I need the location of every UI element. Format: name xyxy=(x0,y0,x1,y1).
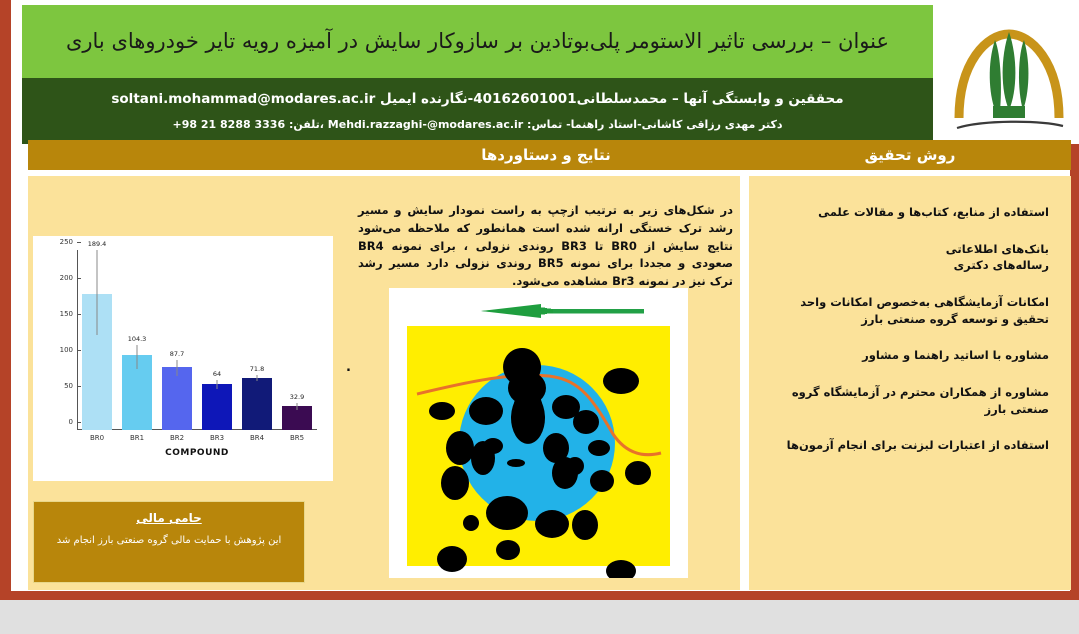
method-item: مشاوره از همکاران محترم در آزمایشگاه گرو… xyxy=(767,384,1049,417)
direction-arrow-icon xyxy=(481,304,644,318)
chart-y-tick: 200 xyxy=(60,274,77,282)
results-panel: در شکل‌های زیر به ترتیب ازچپ به راست نمو… xyxy=(28,176,740,590)
poster-root: عنوان – بررسی تاثیر الاستومر پلی‌بوتادین… xyxy=(0,0,1079,600)
chart-x-tick-label: BR0 xyxy=(82,434,112,442)
abrasion-rate-chart: Abrasion rate ( mg/Km) 050100150200250 1… xyxy=(33,236,333,481)
supervisor-contact-line: دکتر مهدی رزاقی کاشانی-استاد راهنما- تما… xyxy=(22,118,933,131)
chart-y-tick: 100 xyxy=(60,346,77,354)
chart-x-tick-labels: BR0BR1BR2BR3BR4BR5 xyxy=(77,434,317,442)
chart-bar-slot: 71.8 xyxy=(242,250,272,430)
sponsor-title: حامی مالی xyxy=(34,511,304,525)
chart-error-bar xyxy=(297,403,298,410)
schematic-svg xyxy=(389,288,688,578)
method-item: بانک‌های اطلاعاتی رساله‌های دکتری xyxy=(767,241,1049,274)
chart-value-label: 87.7 xyxy=(170,350,184,358)
chart-error-bar xyxy=(217,380,218,389)
chart-x-tick-label: BR1 xyxy=(122,434,152,442)
method-item: امکانات آزمایشگاهی به‌خصوص امکانات واحد … xyxy=(767,294,1049,327)
chart-value-label: 32.9 xyxy=(290,393,304,401)
sponsor-box: حامی مالی این پژوهش با حمایت مالی گروه ص… xyxy=(33,501,305,583)
chart-bar xyxy=(202,384,232,430)
page-title: عنوان – بررسی تاثیر الاستومر پلی‌بوتادین… xyxy=(22,28,933,54)
chart-y-tick: 0 xyxy=(69,418,77,426)
chart-plot-area: 050100150200250 189.4104.387.76471.832.9 xyxy=(77,250,317,430)
section-header-method-label: روش تحقیق xyxy=(865,146,956,164)
chart-x-tick-label: BR4 xyxy=(242,434,272,442)
chart-y-tick: 250 xyxy=(60,238,77,246)
chart-bars: 189.4104.387.76471.832.9 xyxy=(77,250,317,430)
chart-bar-slot: 87.7 xyxy=(162,250,192,430)
chart-error-bar xyxy=(257,375,258,381)
chart-bar xyxy=(242,378,272,430)
results-paragraph: در شکل‌های زیر به ترتیب ازچپ به راست نمو… xyxy=(358,202,733,291)
method-list: استفاده از منابع، کتاب‌ها و مقالات علمی … xyxy=(749,176,1071,454)
method-item: استفاده از اعتبارات لبزنت برای انجام آزم… xyxy=(767,437,1049,454)
university-logo xyxy=(936,0,1079,144)
authors-affiliation-line: محققین و وابستگی آنها – محمدسلطانی401626… xyxy=(22,91,933,107)
method-panel: استفاده از منابع، کتاب‌ها و مقالات علمی … xyxy=(749,176,1071,590)
chart-value-label: 104.3 xyxy=(128,335,147,343)
results-marker-dot: . xyxy=(346,360,351,375)
chart-error-bar xyxy=(97,250,98,335)
chart-bar xyxy=(162,367,192,430)
poster-title-bar: عنوان – بررسی تاثیر الاستومر پلی‌بوتادین… xyxy=(22,5,933,78)
section-header-results-label: نتایج و دستاوردها xyxy=(481,146,611,164)
crack-growth-schematic xyxy=(389,288,688,578)
chart-x-axis-label: COMPOUND xyxy=(77,448,317,458)
chart-y-tick: 50 xyxy=(64,382,77,390)
method-item: مشاوره با اساتید راهنما و مشاور xyxy=(767,347,1049,364)
chart-y-tick: 150 xyxy=(60,310,77,318)
chart-value-label: 64 xyxy=(213,370,221,378)
chart-error-bar xyxy=(177,360,178,377)
chart-value-label: 189.4 xyxy=(88,240,107,248)
chart-error-bar xyxy=(137,345,138,369)
page-background-strip xyxy=(0,600,1079,634)
chart-x-tick-label: BR3 xyxy=(202,434,232,442)
sponsor-body: این پژوهش با حمایت مالی گروه صنعتی بارز … xyxy=(34,533,304,548)
university-logo-icon xyxy=(943,6,1075,138)
chart-x-tick-label: BR5 xyxy=(282,434,312,442)
method-item: استفاده از منابع، کتاب‌ها و مقالات علمی xyxy=(767,204,1049,221)
chart-bar-slot: 64 xyxy=(202,250,232,430)
chart-x-tick-label: BR2 xyxy=(162,434,192,442)
chart-bar-slot: 32.9 xyxy=(282,250,312,430)
section-header-method: روش تحقیق xyxy=(749,140,1071,170)
authors-contact-bar: محققین و وابستگی آنها – محمدسلطانی401626… xyxy=(22,78,933,144)
chart-bar-slot: 104.3 xyxy=(122,250,152,430)
chart-bar-slot: 189.4 xyxy=(82,250,112,430)
chart-value-label: 71.8 xyxy=(250,365,264,373)
